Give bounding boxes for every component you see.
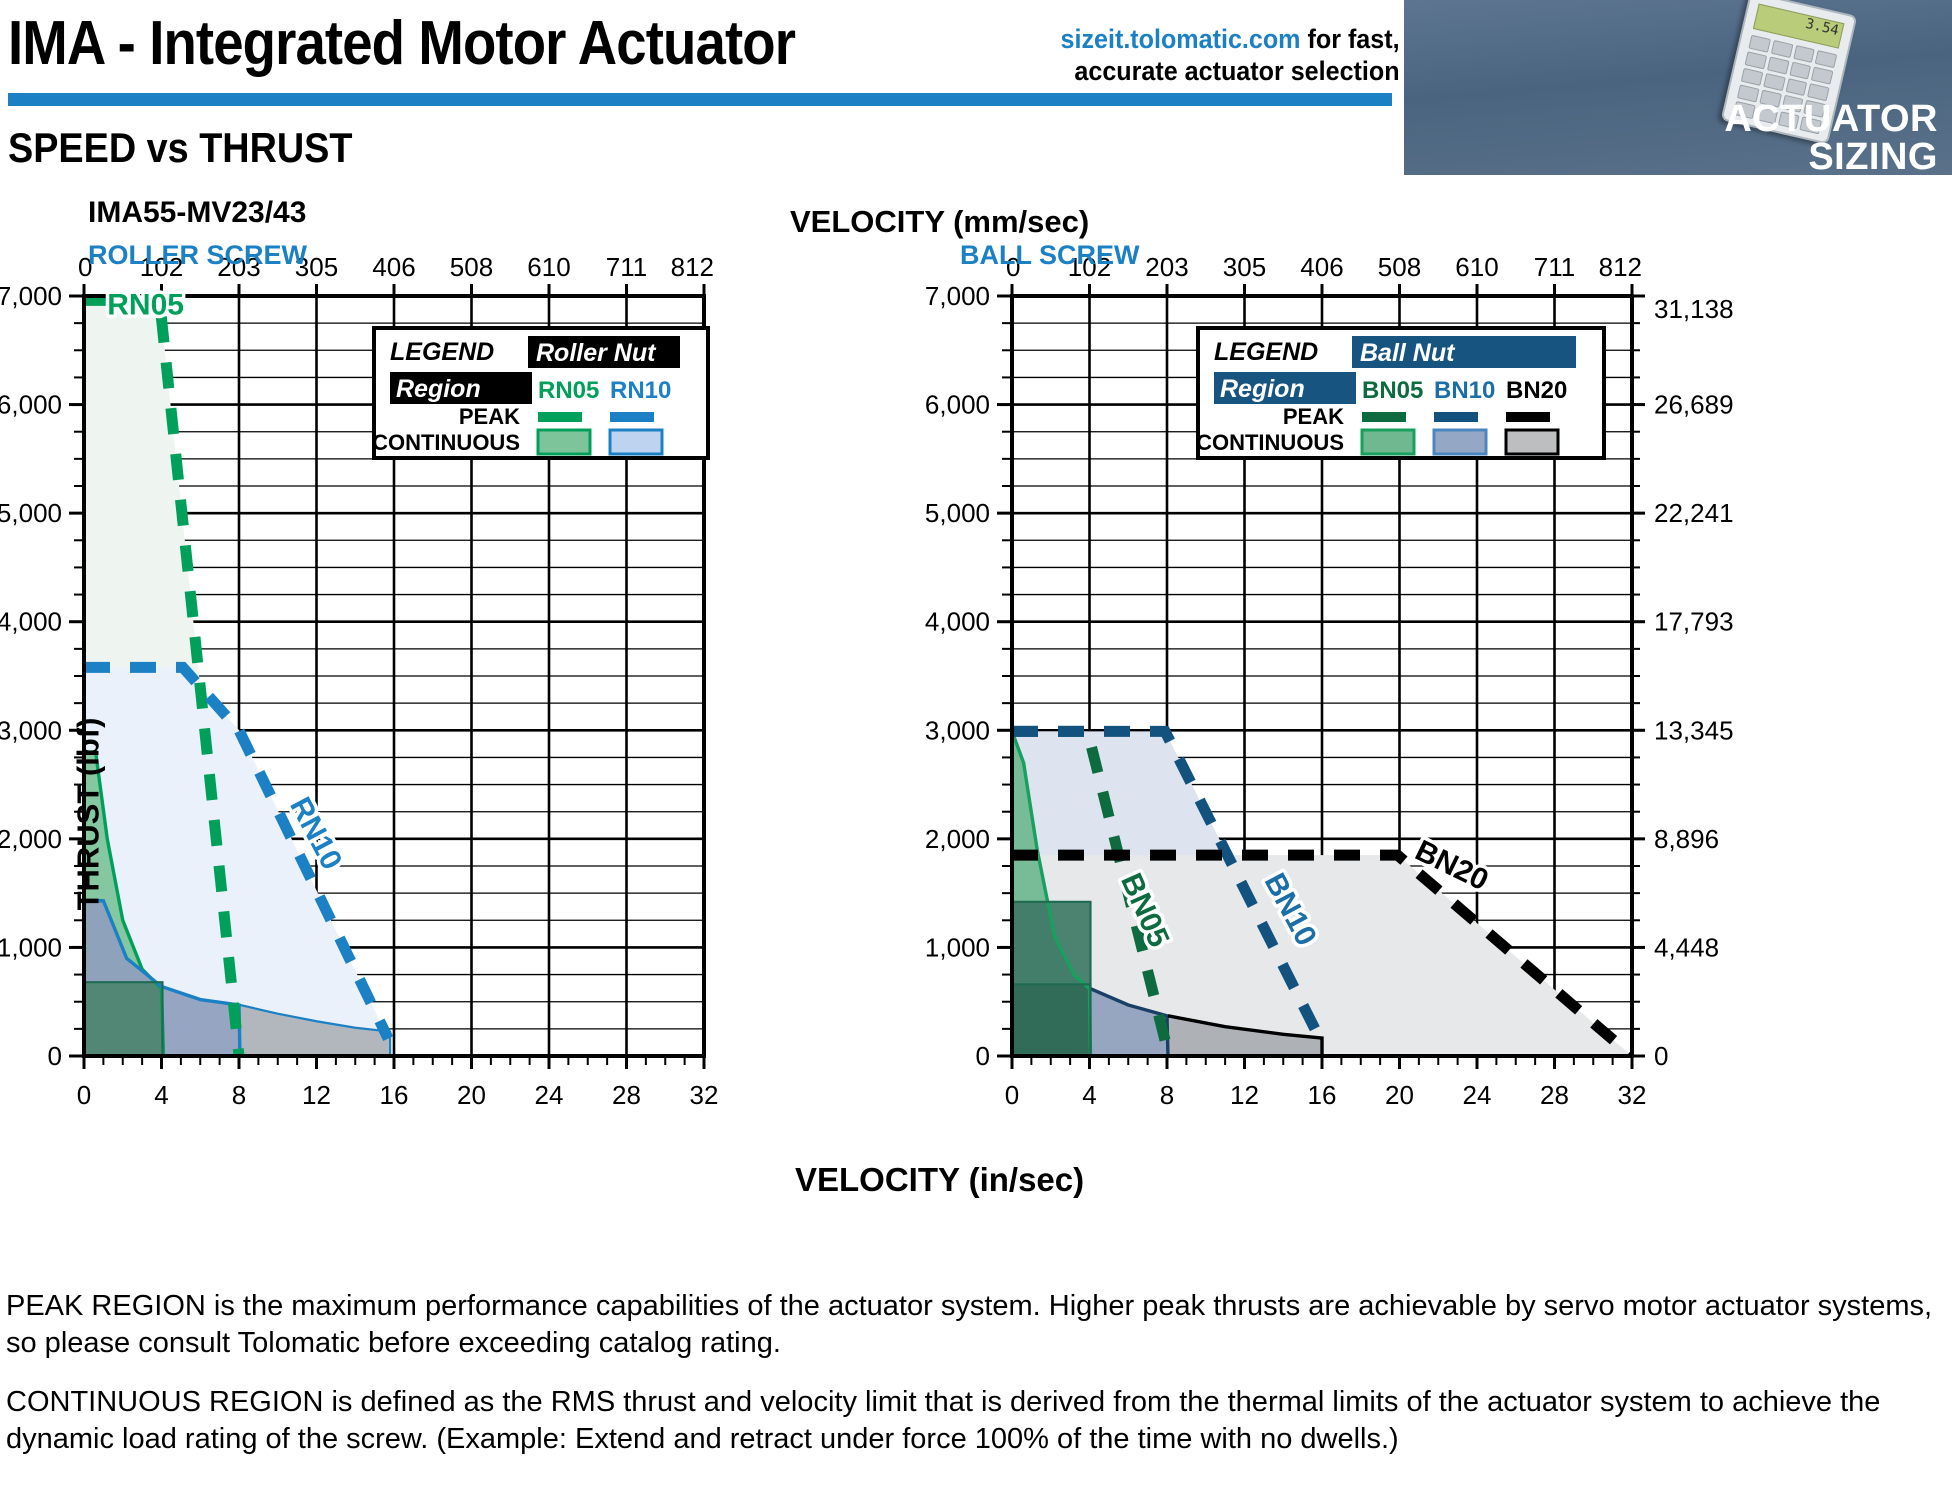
legend-peak-swatch-BN05 <box>1362 412 1406 422</box>
ball-screw-subtitle: BALL SCREW <box>960 240 1140 271</box>
xtick-label-bottom: 8 <box>1160 1080 1174 1110</box>
xtick-label-bottom: 0 <box>77 1080 91 1110</box>
xtick-label-bottom: 20 <box>1385 1080 1414 1110</box>
xtick-label-bottom: 28 <box>1540 1080 1569 1110</box>
legend-roller: LEGENDRoller NutRegionRN05RN10PEAKCONTIN… <box>372 328 708 458</box>
legend-continuous-swatch-RN10 <box>610 430 662 454</box>
xtick-label-bottom: 20 <box>457 1080 486 1110</box>
ytick-label-lbf: 6,000 <box>0 390 62 420</box>
legend-region-label: Region <box>1220 375 1305 403</box>
ytick-label-lbf: 1,000 <box>925 932 990 962</box>
xtick-label-top: 203 <box>1145 252 1188 282</box>
xtick-label-top: 508 <box>1378 252 1421 282</box>
ytick-label-newton: 17,793 <box>1654 607 1734 637</box>
xtick-label-bottom: 16 <box>380 1080 409 1110</box>
badge-line-1: ACTUATOR <box>1404 100 1938 138</box>
legend-row-peak: PEAK <box>1283 404 1344 429</box>
ytick-label-lbf: 1,000 <box>0 932 62 962</box>
ytick-label-lbf: 5,000 <box>925 498 990 528</box>
xtick-label-top: 406 <box>1300 252 1343 282</box>
xtick-label-top: 711 <box>606 252 647 282</box>
section-title: SPEED vs THRUST <box>8 124 352 172</box>
legend-peak-swatch-BN20 <box>1506 412 1550 422</box>
legend-row-continuous: CONTINUOUS <box>1196 430 1344 455</box>
peak-region-note: PEAK REGION is the maximum performance c… <box>6 1288 1950 1362</box>
xtick-label-top: 610 <box>527 252 570 282</box>
xtick-label-top: 812 <box>1599 252 1642 282</box>
legend-region-label: Region <box>396 375 481 403</box>
sizeit-url[interactable]: sizeit.tolomatic.com <box>1061 24 1301 54</box>
speed-vs-thrust-plots: 0481216202428320102203305406508610711812… <box>0 196 1952 1256</box>
xtick-label-bottom: 12 <box>1230 1080 1259 1110</box>
ytick-label-lbf: 7,000 <box>925 281 990 311</box>
continuous-region-note: CONTINUOUS REGION is defined as the RMS … <box>6 1384 1950 1458</box>
xtick-label-bottom: 0 <box>1005 1080 1019 1110</box>
ytick-label-lbf: 3,000 <box>925 715 990 745</box>
footer-notes: PEAK REGION is the maximum performance c… <box>6 1288 1950 1480</box>
legend-nut-header: Ball Nut <box>1360 339 1456 367</box>
ytick-label-newton: 31,138 <box>1654 294 1734 324</box>
xtick-label-top: 305 <box>1223 252 1266 282</box>
ytick-label-lbf: 6,000 <box>925 390 990 420</box>
charts-container: IMA55-MV23/43 VELOCITY (mm/sec) ROLLER S… <box>0 196 1952 1256</box>
area-BN05-darker-continuous-darkest <box>1012 984 1090 1056</box>
page-header: IMA - Integrated Motor Actuator sizeit.t… <box>0 0 1952 120</box>
legend-heading: LEGEND <box>390 338 494 366</box>
badge-label: ACTUATOR SIZING <box>1404 100 1938 175</box>
legend-heading: LEGEND <box>1214 338 1318 366</box>
page-title: IMA - Integrated Motor Actuator <box>8 8 795 79</box>
legend-row-peak: PEAK <box>459 404 520 429</box>
sizeit-callout: sizeit.tolomatic.com for fast, accurate … <box>1061 24 1400 88</box>
ytick-label-newton: 4,448 <box>1654 932 1719 962</box>
ytick-label-lbf: 2,000 <box>925 824 990 854</box>
sizeit-subline: accurate actuator selection <box>1061 56 1400 88</box>
ytick-label-lbf: 4,000 <box>925 607 990 637</box>
legend-peak-swatch-RN10 <box>610 412 654 422</box>
xtick-label-top: 508 <box>450 252 493 282</box>
ytick-label-newton: 26,689 <box>1654 390 1734 420</box>
velocity-top-axis-label: VELOCITY (mm/sec) <box>790 204 1089 240</box>
ytick-label-lbf: 3,000 <box>0 715 62 745</box>
xtick-label-bottom: 28 <box>612 1080 641 1110</box>
xtick-label-bottom: 4 <box>1082 1080 1096 1110</box>
thrust-lbf-axis-label: THRUST (lbf) <box>70 718 106 911</box>
legend-ball: LEGENDBall NutRegionBN05BN10BN20PEAKCONT… <box>1196 328 1604 458</box>
xtick-label-top: 812 <box>671 252 714 282</box>
xtick-label-top: 406 <box>372 252 415 282</box>
legend-peak-swatch-RN05 <box>538 412 582 422</box>
xtick-label-bottom: 24 <box>535 1080 564 1110</box>
xtick-label-bottom: 16 <box>1308 1080 1337 1110</box>
legend-column-RN05: RN05 <box>538 377 599 404</box>
curve-label-RN05: RN05 <box>107 288 184 321</box>
velocity-bottom-axis-label: VELOCITY (in/sec) <box>795 1161 1084 1199</box>
area-RN05-dark-continuous-dark <box>84 982 162 1056</box>
ytick-label-lbf: 2,000 <box>0 824 62 854</box>
sizeit-url-tail: for fast, <box>1301 24 1400 54</box>
legend-column-RN10: RN10 <box>610 377 671 404</box>
roller-screw-subtitle: ROLLER SCREW <box>88 240 307 271</box>
ytick-label-lbf: 0 <box>48 1041 62 1071</box>
legend-row-continuous: CONTINUOUS <box>372 430 520 455</box>
xtick-label-bottom: 8 <box>232 1080 246 1110</box>
xtick-label-top: 711 <box>1534 252 1575 282</box>
ytick-label-lbf: 0 <box>976 1041 990 1071</box>
ytick-label-newton: 0 <box>1654 1041 1668 1071</box>
xtick-label-bottom: 32 <box>1618 1080 1647 1110</box>
actuator-sizing-badge: 3.54 ACTUATOR SIZING <box>1404 0 1952 175</box>
ytick-label-lbf: 7,000 <box>0 281 62 311</box>
xtick-label-bottom: 24 <box>1463 1080 1492 1110</box>
xtick-label-bottom: 4 <box>154 1080 168 1110</box>
legend-continuous-swatch-BN10 <box>1434 430 1486 454</box>
legend-continuous-swatch-BN20 <box>1506 430 1558 454</box>
legend-nut-header: Roller Nut <box>536 339 657 367</box>
xtick-label-bottom: 12 <box>302 1080 331 1110</box>
ytick-label-lbf: 4,000 <box>0 607 62 637</box>
ytick-label-newton: 22,241 <box>1654 498 1734 528</box>
ytick-label-newton: 8,896 <box>1654 824 1719 854</box>
ytick-label-lbf: 5,000 <box>0 498 62 528</box>
xtick-label-bottom: 32 <box>690 1080 719 1110</box>
plot-ball: 0481216202428320102203305406508610711812… <box>925 252 1734 1110</box>
header-divider <box>8 93 1392 106</box>
xtick-label-top: 610 <box>1455 252 1498 282</box>
plot-roller: 0481216202428320102203305406508610711812… <box>0 252 718 1110</box>
legend-continuous-swatch-RN05 <box>538 430 590 454</box>
ytick-label-newton: 13,345 <box>1654 715 1734 745</box>
badge-line-2: SIZING <box>1404 138 1938 175</box>
model-label: IMA55-MV23/43 <box>88 196 306 230</box>
legend-column-BN05: BN05 <box>1362 377 1423 404</box>
legend-column-BN20: BN20 <box>1506 377 1567 404</box>
legend-continuous-swatch-BN05 <box>1362 430 1414 454</box>
legend-column-BN10: BN10 <box>1434 377 1495 404</box>
legend-peak-swatch-BN10 <box>1434 412 1478 422</box>
